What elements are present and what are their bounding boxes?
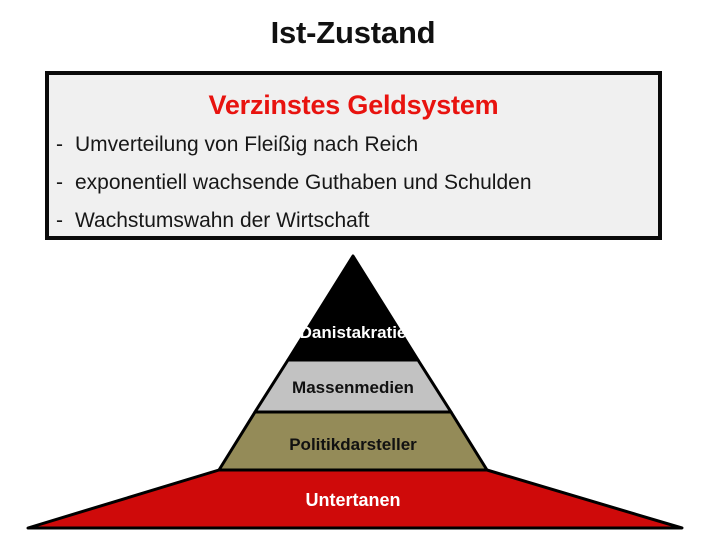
pyramid-tier-3-label: Politikdarsteller [289,435,417,454]
bullet-text: Wachstumswahn der Wirtschaft [75,202,658,240]
page-title: Ist-Zustand [0,13,706,53]
pyramid-tier-1-label: Danistakratie [300,323,407,342]
bullet-text: exponentiell wachsende Guthaben und Schu… [75,164,658,202]
info-box-bullet-list: - Umverteilung von Fleißig nach Reich - … [49,126,658,240]
bullet-dash-marker: - [56,202,75,240]
list-item: - exponentiell wachsende Guthaben und Sc… [49,164,658,202]
bullet-dash-marker: - [56,164,75,202]
list-item: - Umverteilung von Fleißig nach Reich [49,126,658,164]
list-item: - Wachstumswahn der Wirtschaft [49,202,658,240]
bullet-dash-marker: - [56,126,75,164]
pyramid-tier-2-label: Massenmedien [292,378,414,397]
pyramid-tier-1-shape [288,256,418,360]
hierarchy-pyramid-diagram: Danistakratie Massenmedien Politikdarste… [0,250,706,537]
info-box-heading: Verzinstes Geldsystem [49,88,658,122]
info-box: Verzinstes Geldsystem - Umverteilung von… [45,71,662,240]
pyramid-svg: Danistakratie Massenmedien Politikdarste… [0,250,706,537]
bullet-text: Umverteilung von Fleißig nach Reich [75,126,658,164]
pyramid-tier-4-label: Untertanen [305,490,400,510]
